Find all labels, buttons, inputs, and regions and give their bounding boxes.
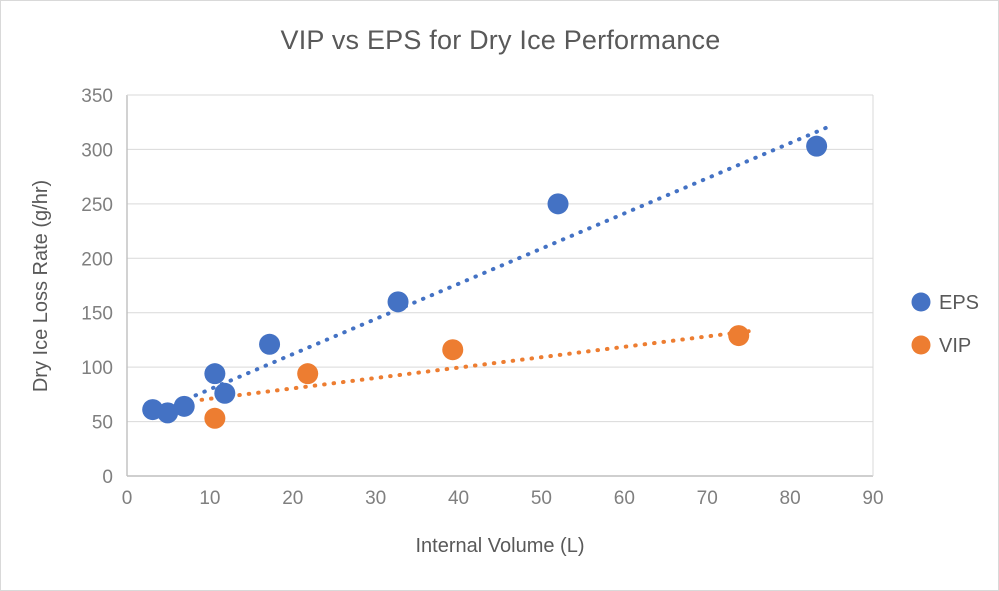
data-points	[142, 136, 827, 429]
x-axis-tick-label: 90	[862, 488, 883, 509]
x-axis-tick-label: 0	[122, 488, 133, 509]
x-axis-tick-label: 50	[531, 488, 552, 509]
y-axis-tick-labels: 050100150200250300350	[81, 86, 113, 488]
y-axis-tick-label: 50	[92, 413, 113, 434]
legend-label-vip[interactable]: VIP	[939, 335, 971, 357]
x-axis-tick-label: 40	[448, 488, 469, 509]
x-axis-tick-label: 60	[614, 488, 635, 509]
y-axis-tick-label: 350	[81, 86, 113, 107]
trendline-eps	[152, 125, 832, 413]
x-axis-tick-label: 10	[199, 488, 220, 509]
y-axis-tick-label: 200	[81, 249, 113, 270]
data-point-eps[interactable]	[204, 363, 225, 384]
data-point-eps[interactable]	[214, 383, 235, 404]
data-point-vip[interactable]	[442, 339, 463, 360]
data-point-vip[interactable]	[204, 408, 225, 429]
y-axis-tick-label: 150	[81, 304, 113, 325]
trendlines	[152, 125, 832, 413]
x-axis-tick-label: 70	[697, 488, 718, 509]
scatter-plot: 050100150200250300350 010203040506070809…	[1, 1, 999, 591]
axis-lines	[127, 95, 873, 476]
x-axis-tick-label: 20	[282, 488, 303, 509]
y-axis-title: Dry Ice Loss Rate (g/hr)	[30, 180, 52, 392]
x-axis-tick-label: 30	[365, 488, 386, 509]
data-point-vip[interactable]	[297, 363, 318, 384]
data-point-eps[interactable]	[388, 291, 409, 312]
legend[interactable]: EPSVIP	[912, 292, 980, 357]
y-axis-tick-label: 300	[81, 140, 113, 161]
legend-label-eps[interactable]: EPS	[939, 292, 979, 314]
gridlines	[127, 95, 873, 422]
y-axis-tick-label: 100	[81, 358, 113, 379]
y-axis-tick-label: 0	[102, 467, 113, 488]
data-point-eps[interactable]	[548, 193, 569, 214]
data-point-eps[interactable]	[259, 334, 280, 355]
chart-container: VIP vs EPS for Dry Ice Performance 05010…	[0, 0, 999, 591]
data-point-eps[interactable]	[174, 396, 195, 417]
y-axis-tick-label: 250	[81, 195, 113, 216]
data-point-eps[interactable]	[806, 136, 827, 157]
x-axis-tick-label: 80	[780, 488, 801, 509]
legend-marker-vip[interactable]	[912, 336, 931, 355]
trendline-vip	[202, 331, 749, 400]
legend-marker-eps[interactable]	[912, 293, 931, 312]
x-axis-title: Internal Volume (L)	[416, 535, 585, 557]
x-axis-tick-labels: 0102030405060708090	[122, 488, 884, 509]
data-point-vip[interactable]	[728, 325, 749, 346]
